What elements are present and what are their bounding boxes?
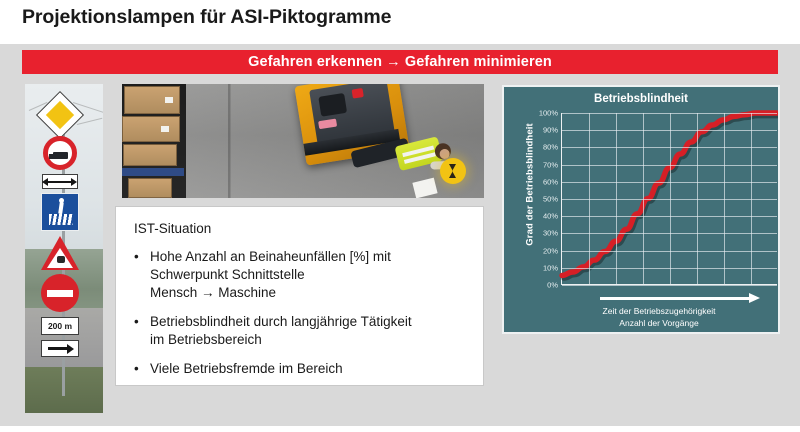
no-trucks-sign — [43, 136, 77, 170]
chart-plot-area — [561, 113, 777, 285]
signpost-photo: 200 m — [25, 84, 103, 413]
right-arrow-plate — [41, 340, 79, 357]
slide-bottom-edge — [0, 426, 800, 432]
chart-y-ticks: 100%90%80%70%60%50%40%30%20%10%0% — [524, 113, 558, 285]
chart-y-tick-label: 30% — [524, 229, 558, 238]
chart-x-axis-label-2: Anzahl der Vorgänge — [544, 317, 774, 329]
chart-gridline-horizontal — [562, 285, 777, 286]
warehouse-accident-photo — [122, 84, 484, 198]
distance-plate-label: 200 m — [48, 321, 72, 331]
list-item: • Viele Betriebsfremde im Bereich — [134, 360, 467, 378]
list-item-text: Viele Betriebsfremde im Bereich — [150, 360, 343, 378]
x-arrow-line — [600, 297, 750, 300]
pedestrian-body-icon — [58, 202, 64, 214]
floor-seam — [230, 84, 231, 198]
distance-plate: 200 m — [41, 317, 79, 335]
chart-y-tick-label: 90% — [524, 126, 558, 135]
bullet-marker: • — [134, 248, 150, 302]
box-label — [161, 126, 169, 132]
bullet-marker: • — [134, 313, 150, 349]
chart-y-tick-label: 10% — [524, 263, 558, 272]
cardboard-box — [128, 178, 172, 198]
page-title: Projektionslampen für ASI-Piktogramme — [22, 6, 762, 29]
right-arrow-icon — [48, 347, 67, 350]
chart-gridline-vertical — [589, 113, 590, 284]
chart-y-tick-label: 20% — [524, 246, 558, 255]
truck-icon — [53, 152, 68, 159]
list-item: • Betriebsblindheit durch langjährige Tä… — [134, 313, 467, 349]
chart-x-axis-caption: Zeit der Betriebszugehörigkeit Anzahl de… — [544, 305, 774, 330]
chart-gridline-vertical — [643, 113, 644, 284]
chart-y-tick-label: 100% — [524, 109, 558, 118]
cardboard-box — [122, 116, 180, 142]
x-arrow-head-icon — [749, 293, 760, 303]
double-arrow-icon — [48, 181, 71, 183]
bullet-marker: • — [134, 360, 150, 378]
no-entry-sign — [41, 274, 79, 312]
chart-gridline-vertical — [670, 113, 671, 284]
chart-gridline-vertical — [697, 113, 698, 284]
chart-y-tick-label: 60% — [524, 177, 558, 186]
two-way-arrow-plate — [42, 174, 78, 189]
chart-y-tick-label: 80% — [524, 143, 558, 152]
chart-y-tick-label: 50% — [524, 195, 558, 204]
headline-banner: Gefahren erkennen → Gefahren minimieren — [22, 50, 778, 74]
chart-x-axis-label: Zeit der Betriebszugehörigkeit — [544, 305, 774, 317]
chart-gridline-vertical — [724, 113, 725, 284]
worker-icon — [57, 256, 65, 263]
chart-title: Betriebsblindheit — [504, 93, 778, 105]
chart-y-tick-label: 70% — [524, 160, 558, 169]
list-item-text: Betriebsblindheit durch langjährige Täti… — [150, 313, 412, 349]
box-label — [165, 97, 173, 103]
chart-gridline-vertical — [616, 113, 617, 284]
ist-situation-box: IST-Situation • Hohe Anzahl an Beinaheun… — [115, 206, 484, 386]
chart-y-tick-label: 40% — [524, 212, 558, 221]
forklift-pink-part — [318, 119, 337, 130]
list-item: • Hohe Anzahl an Beinaheunfällen [%] mit… — [134, 248, 467, 302]
projected-pictogram-icon — [440, 158, 466, 184]
slide-root: Projektionslampen für ASI-Piktogramme Ge… — [0, 0, 800, 432]
headline-banner-text: Gefahren erkennen → Gefahren minimieren — [248, 54, 552, 70]
pedestrian-crossing-sign — [41, 193, 79, 231]
forklift-red-part — [352, 88, 364, 99]
list-item-text: Hohe Anzahl an Beinaheunfällen [%] mit S… — [150, 248, 391, 302]
ist-situation-heading: IST-Situation — [134, 221, 467, 236]
betriebsblindheit-chart: Betriebsblindheit Grad der Betriebsblind… — [502, 85, 780, 334]
no-entry-bar-icon — [47, 290, 73, 297]
cardboard-box — [123, 144, 177, 166]
forklift-seat — [318, 93, 347, 117]
chart-y-tick-label: 0% — [524, 281, 558, 290]
blue-pallet — [122, 168, 184, 176]
zebra-stripes-icon — [49, 214, 73, 225]
chart-gridline-vertical — [751, 113, 752, 284]
cardboard-box — [124, 86, 180, 114]
roadworks-sign — [41, 236, 79, 270]
chart-x-axis-arrow — [600, 293, 760, 303]
